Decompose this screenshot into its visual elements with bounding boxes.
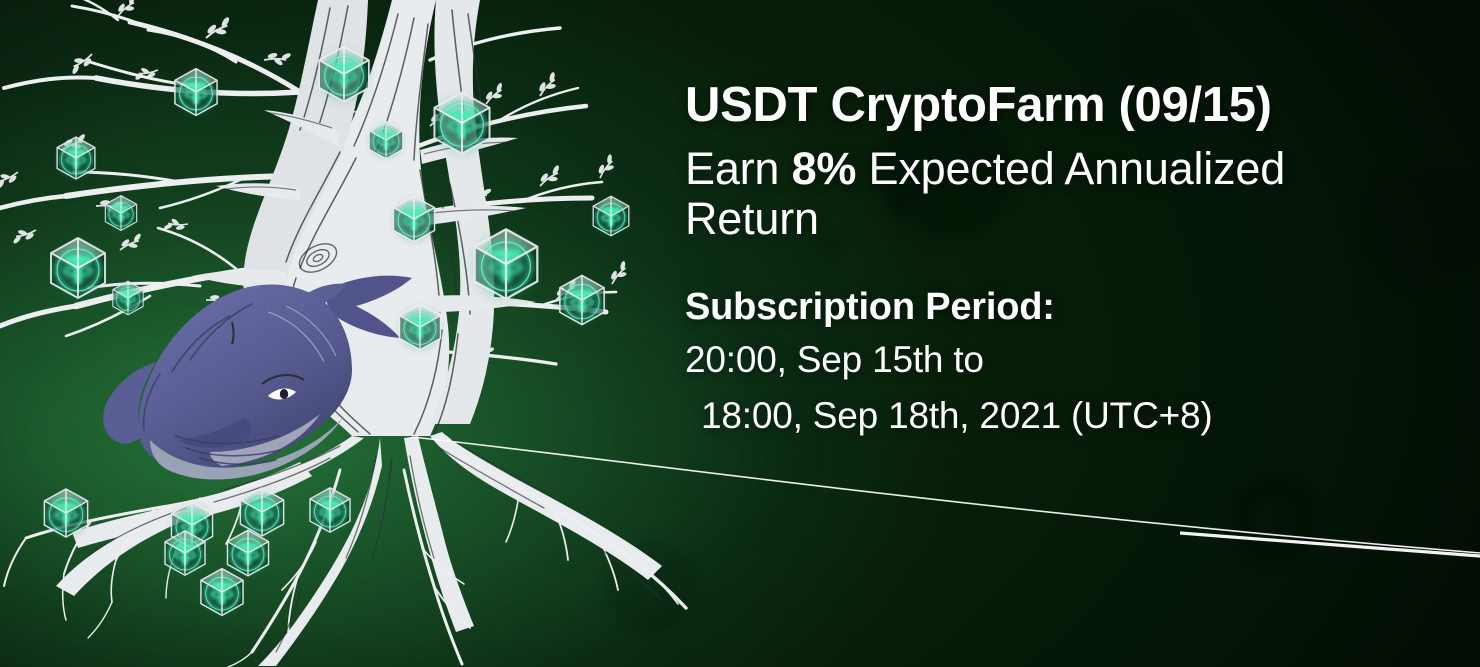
subscription-period-label: Subscription Period: <box>685 285 1405 331</box>
subheadline-prefix: Earn <box>685 143 792 194</box>
usdt-cube <box>55 137 97 180</box>
root-system <box>4 432 686 667</box>
usdt-cube <box>173 69 220 117</box>
usdt-cube <box>42 489 90 539</box>
period-end: 18:00, Sep 18th, 2021 (UTC+8) <box>685 388 1405 444</box>
promotional-banner: USDT CryptoFarm (09/15) Earn 8% Expected… <box>0 0 1480 667</box>
return-rate: 8% <box>792 143 857 194</box>
banner-copy: USDT CryptoFarm (09/15) Earn 8% Expected… <box>685 78 1405 443</box>
subscription-period-value: 20:00, Sep 15th to 18:00, Sep 18th, 2021… <box>685 332 1405 443</box>
usdt-cube <box>557 275 606 326</box>
usdt-cube <box>111 281 145 316</box>
usdt-cube <box>48 238 108 300</box>
subheadline: Earn 8% Expected Annualized Return <box>685 144 1405 245</box>
usdt-cube <box>199 569 246 617</box>
artwork-illustration <box>0 0 700 667</box>
period-start: 20:00, Sep 15th to <box>685 332 1405 388</box>
usdt-cube <box>308 488 352 534</box>
usdt-cube <box>591 196 631 237</box>
page-title: USDT CryptoFarm (09/15) <box>685 78 1405 134</box>
